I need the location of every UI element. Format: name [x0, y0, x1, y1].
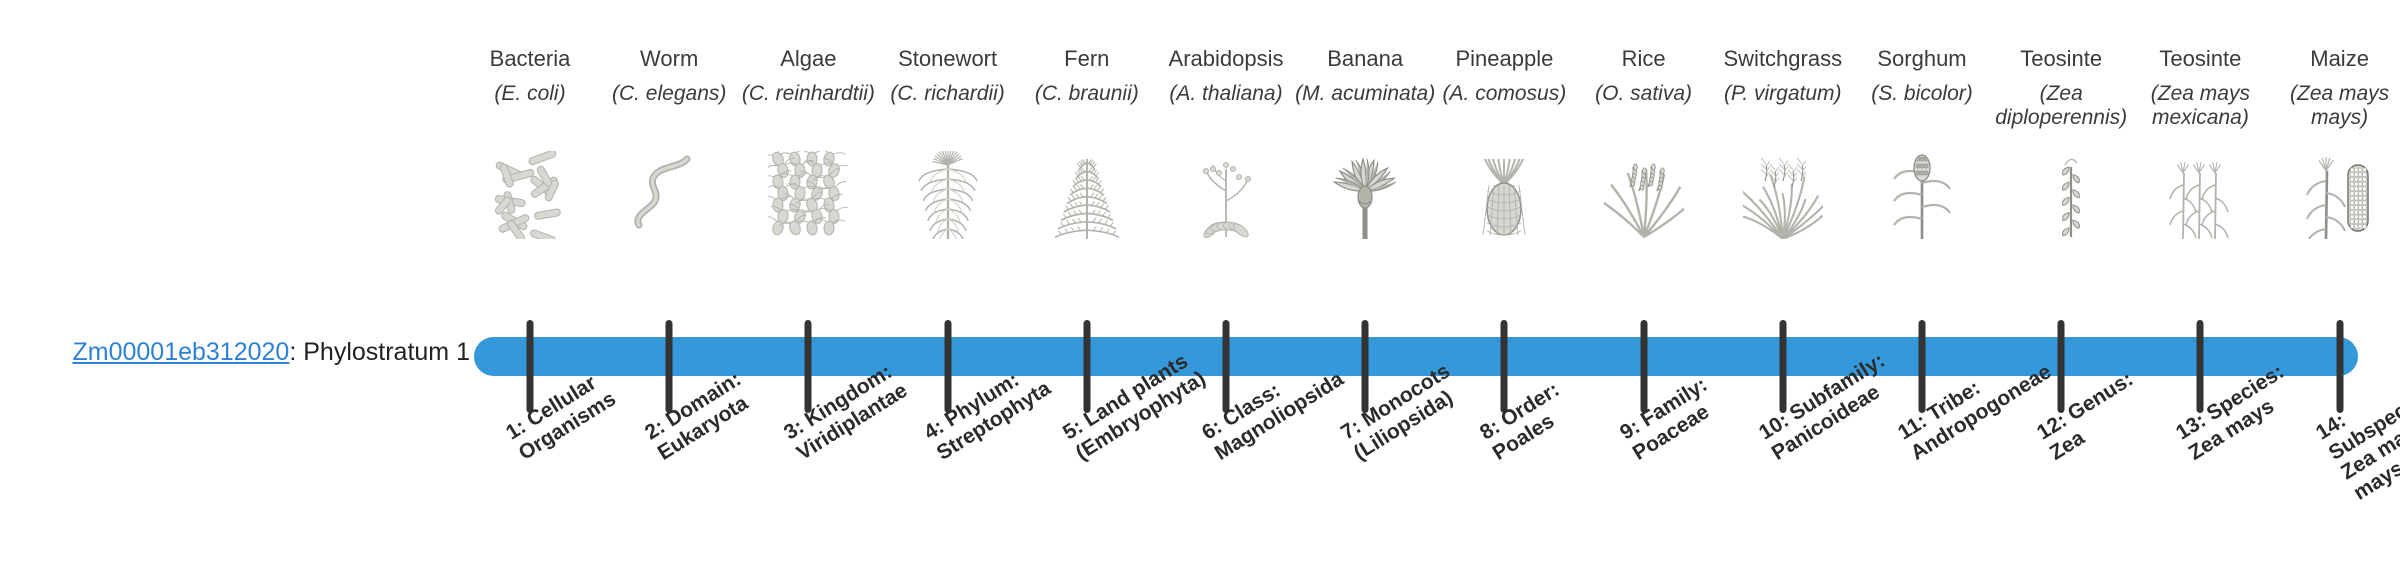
species-common-name: Pineapple	[1428, 46, 1580, 71]
species-latin-name: (C. reinhardtii)	[732, 82, 884, 106]
species-common-name: Teosinte	[1985, 46, 2137, 71]
species-column-10: Switchgrass(P. virgatum)	[1707, 46, 1859, 106]
species-column-7: Banana(M. acuminata)	[1289, 46, 1441, 106]
rice-plant-icon	[1569, 151, 1719, 239]
gene-label-separator: :	[289, 338, 303, 366]
species-common-name: Worm	[593, 46, 745, 71]
species-common-name: Stonewort	[872, 46, 1024, 71]
gene-phylostratum-label: Zm00001eb312020: Phylostratum 1	[40, 339, 470, 367]
species-latin-name: (S. bicolor)	[1846, 82, 1998, 106]
species-column-9: Rice(O. sativa)	[1568, 46, 1720, 106]
species-column-11: Sorghum(S. bicolor)	[1846, 46, 1998, 106]
species-latin-name: (C. elegans)	[593, 82, 745, 106]
species-column-2: Worm(C. elegans)	[593, 46, 745, 106]
species-latin-name: (Zea mays mexicana)	[2124, 82, 2276, 129]
tick-mark-6[interactable]	[1223, 320, 1230, 413]
tick-mark-3[interactable]	[805, 320, 812, 413]
species-column-1: Bacteria(E. coli)	[454, 46, 606, 106]
phylostratum-figure: Zm00001eb312020: Phylostratum 1 Bacteria…	[0, 0, 2400, 580]
species-common-name: Bacteria	[454, 46, 606, 71]
sorghum-panicle-icon	[1847, 151, 1997, 239]
species-common-name: Switchgrass	[1707, 46, 1859, 71]
pineapple-icon	[1429, 151, 1579, 239]
species-common-name: Algae	[732, 46, 884, 71]
tick-mark-11[interactable]	[1919, 320, 1926, 413]
tick-mark-5[interactable]	[1083, 320, 1090, 413]
tick-mark-1[interactable]	[527, 320, 534, 413]
species-latin-name: (E. coli)	[454, 82, 606, 106]
species-latin-name: (A. thaliana)	[1150, 82, 1302, 106]
species-latin-name: (C. braunii)	[1011, 82, 1163, 106]
species-common-name: Teosinte	[2124, 46, 2276, 71]
species-column-4: Stonewort(C. richardii)	[872, 46, 1024, 106]
species-column-13: Teosinte(Zea mays mexicana)	[2124, 46, 2276, 129]
species-common-name: Arabidopsis	[1150, 46, 1302, 71]
species-column-5: Fern(C. braunii)	[1011, 46, 1163, 106]
fern-frond-icon	[1012, 151, 1162, 239]
switchgrass-tuft-icon	[1708, 151, 1858, 239]
gene-id-link[interactable]: Zm00001eb312020	[72, 338, 289, 366]
flagellate-algae-cells-icon	[733, 151, 883, 239]
species-column-3: Algae(C. reinhardtii)	[732, 46, 884, 106]
maize-plant-and-cob-icon	[2265, 151, 2400, 239]
tick-mark-14[interactable]	[2336, 320, 2343, 413]
tick-mark-8[interactable]	[1501, 320, 1508, 413]
tick-mark-9[interactable]	[1640, 320, 1647, 413]
species-latin-name: (Zea diploperennis)	[1985, 82, 2137, 129]
tick-mark-13[interactable]	[2197, 320, 2204, 413]
teosinte-ear-pair-icon	[1986, 151, 2136, 239]
species-common-name: Banana	[1289, 46, 1441, 71]
nematode-worm-icon	[594, 151, 744, 239]
species-common-name: Fern	[1011, 46, 1163, 71]
arabidopsis-rosette-icon	[1151, 151, 1301, 239]
gene-phylostratum-value: Phylostratum 1	[303, 338, 470, 366]
stonewort-whorl-icon	[873, 151, 1023, 239]
species-latin-name: (Zea mays mays)	[2264, 82, 2400, 129]
species-latin-name: (O. sativa)	[1568, 82, 1720, 106]
banana-palm-icon	[1290, 151, 1440, 239]
species-common-name: Maize	[2264, 46, 2400, 71]
tick-mark-2[interactable]	[666, 320, 673, 413]
species-latin-name: (C. richardii)	[872, 82, 1024, 106]
species-common-name: Sorghum	[1846, 46, 1998, 71]
species-column-12: Teosinte(Zea diploperennis)	[1985, 46, 2137, 129]
tick-mark-12[interactable]	[2058, 320, 2065, 413]
species-column-8: Pineapple(A. comosus)	[1428, 46, 1580, 106]
species-latin-name: (P. virgatum)	[1707, 82, 1859, 106]
species-common-name: Rice	[1568, 46, 1720, 71]
tick-mark-7[interactable]	[1362, 320, 1369, 413]
teosinte-mexicana-icon	[2125, 151, 2275, 239]
bacteria-rods-icon	[455, 151, 605, 239]
species-latin-name: (M. acuminata)	[1289, 82, 1441, 106]
species-latin-name: (A. comosus)	[1428, 82, 1580, 106]
tick-mark-4[interactable]	[944, 320, 951, 413]
tick-mark-10[interactable]	[1779, 320, 1786, 413]
species-column-6: Arabidopsis(A. thaliana)	[1150, 46, 1302, 106]
species-column-14: Maize(Zea mays mays)	[2264, 46, 2400, 129]
